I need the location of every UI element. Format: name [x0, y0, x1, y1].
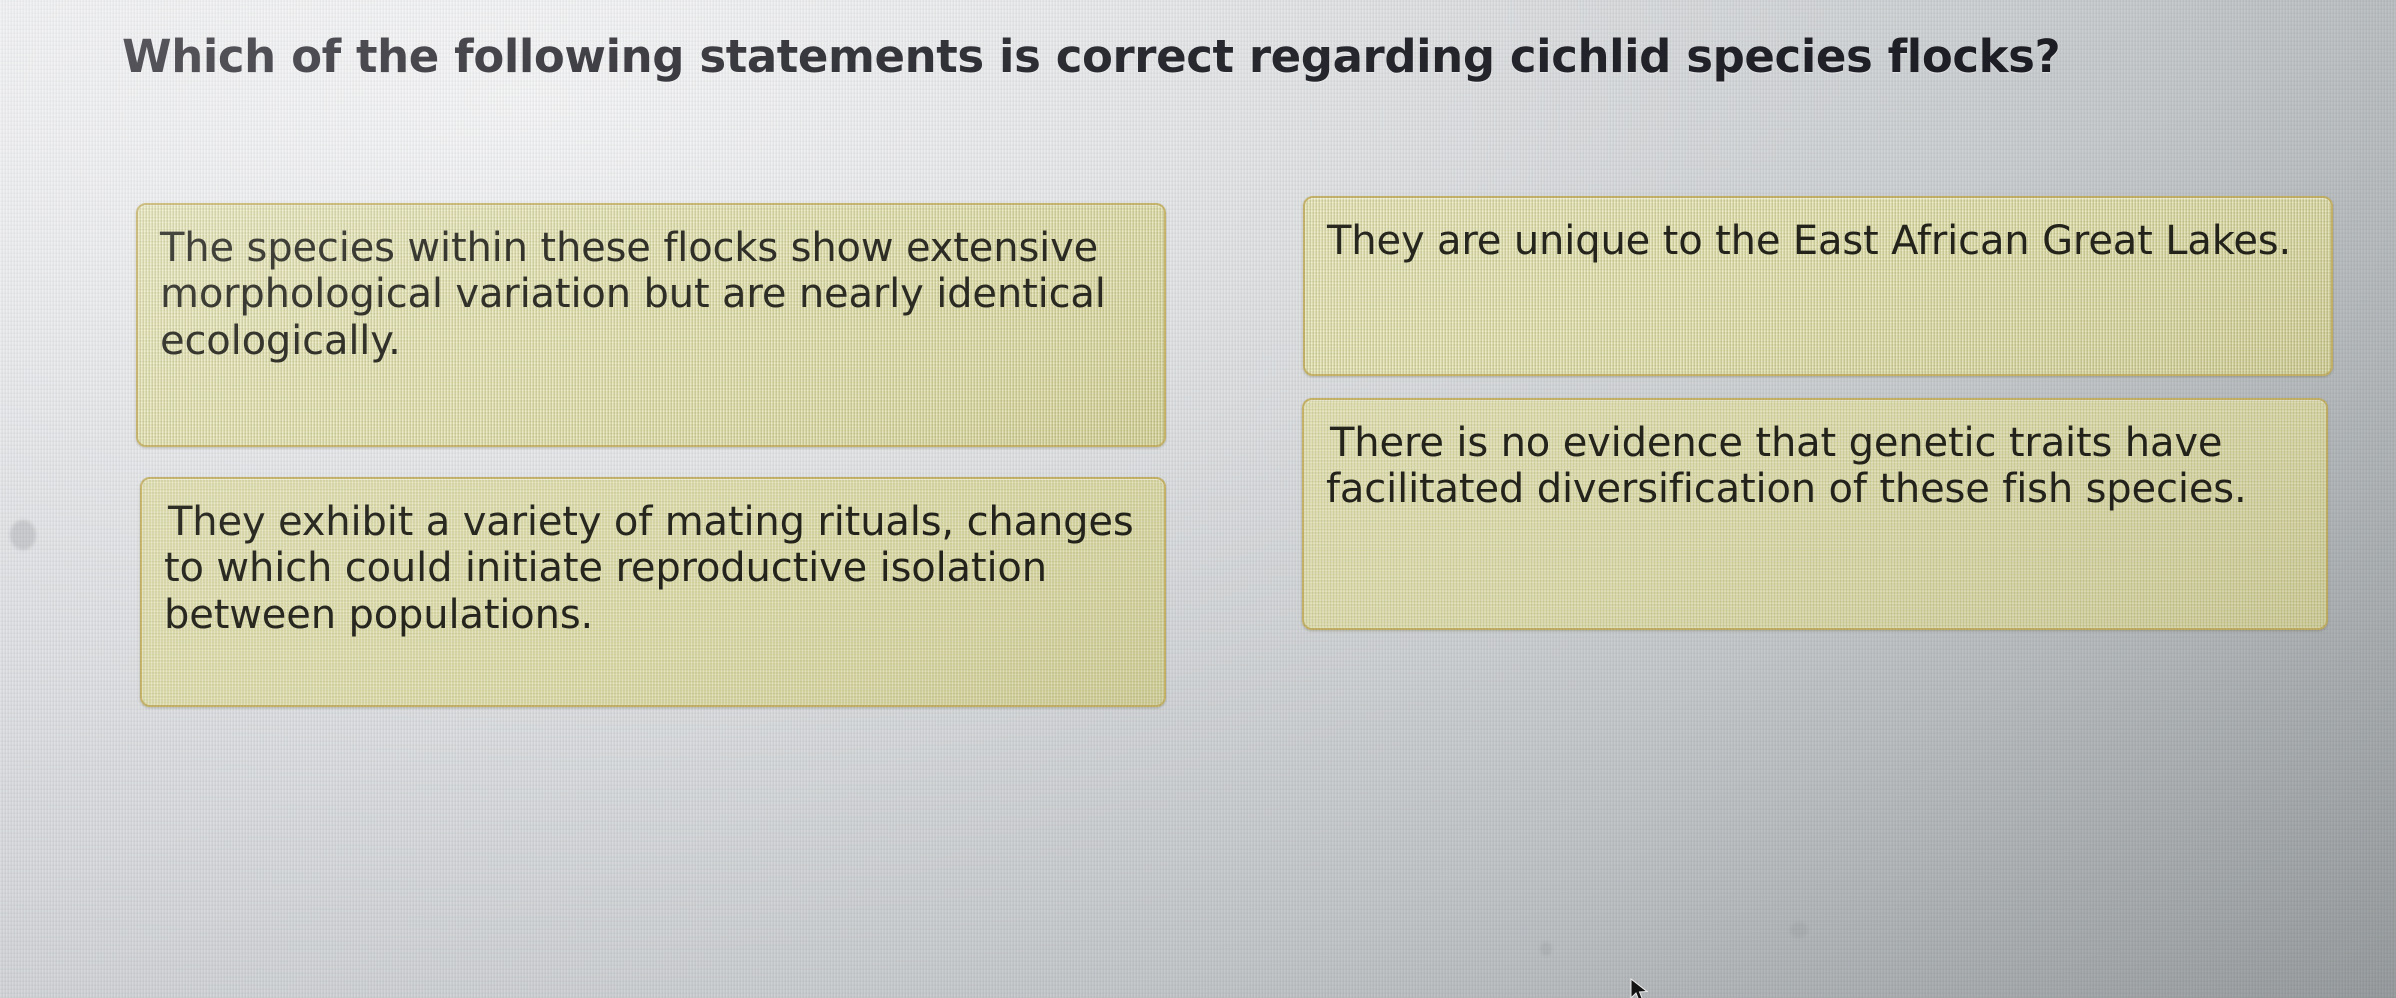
- dust-speck: [1790, 922, 1808, 938]
- dust-speck: [1540, 942, 1552, 956]
- answer-option-b[interactable]: They exhibit a variety of mating rituals…: [140, 477, 1166, 707]
- mouse-cursor-icon: [1630, 978, 1652, 998]
- dust-speck: [10, 520, 36, 550]
- answer-option-a[interactable]: The species within these flocks show ext…: [136, 203, 1166, 447]
- question-prompt: Which of the following statements is cor…: [122, 30, 2222, 83]
- answer-option-c-label: They are unique to the East African Grea…: [1327, 218, 2291, 264]
- quiz-screen: Which of the following statements is cor…: [0, 0, 2396, 998]
- answer-option-d[interactable]: There is no evidence that genetic traits…: [1302, 398, 2328, 630]
- answer-option-c[interactable]: They are unique to the East African Grea…: [1303, 196, 2333, 376]
- answer-option-b-label: They exhibit a variety of mating rituals…: [164, 499, 1134, 638]
- answer-option-a-label: The species within these flocks show ext…: [160, 225, 1106, 364]
- answer-option-d-label: There is no evidence that genetic traits…: [1326, 420, 2247, 512]
